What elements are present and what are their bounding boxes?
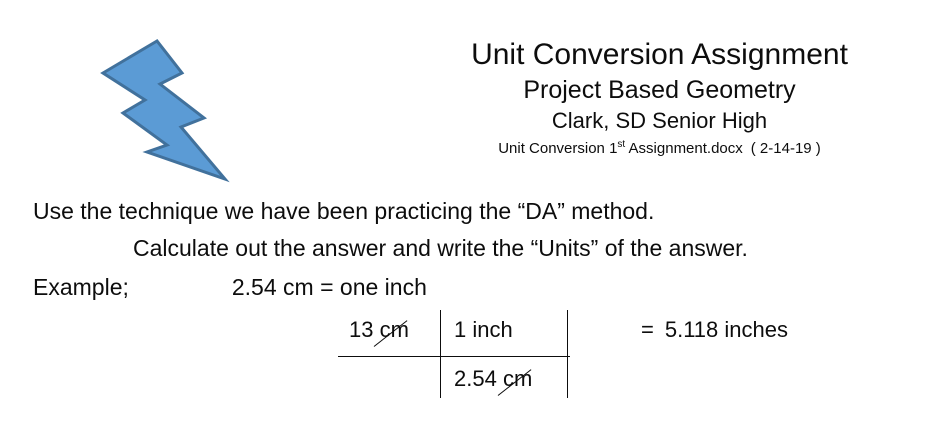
- instruction-line-1: Use the technique we have been practicin…: [33, 196, 654, 226]
- instruction-line-2: Calculate out the answer and write the “…: [133, 233, 748, 263]
- da-numerator-right-unit: inch: [472, 317, 512, 342]
- da-result: =5.118 inches: [641, 316, 788, 344]
- lightning-bolt-icon: [95, 32, 240, 187]
- file-name-prefix: Unit Conversion 1: [498, 140, 617, 157]
- example-line: Example;2.54 cm = one inch: [33, 272, 427, 302]
- da-denominator-right: 2.54 cm: [454, 365, 532, 393]
- file-name-suffix: Assignment.docx: [625, 140, 743, 157]
- example-equation: 2.54 cm = one inch: [232, 274, 427, 300]
- da-numerator-left-unit-cancelled: cm: [380, 316, 409, 344]
- course-subtitle: Project Based Geometry: [392, 74, 927, 106]
- da-numerator-right: 1 inch: [454, 316, 513, 344]
- column-divider-2: [567, 310, 568, 398]
- da-numerator-right-value: 1: [454, 317, 466, 342]
- da-numerator-left-value: 13: [349, 317, 373, 342]
- da-denominator-right-unit-cancelled: cm: [503, 365, 532, 393]
- da-denominator-right-value: 2.54: [454, 366, 497, 391]
- page-title: Unit Conversion Assignment: [392, 36, 927, 74]
- file-date: ( 2-14-19 ): [751, 140, 821, 157]
- example-label: Example;: [33, 274, 129, 300]
- equals-sign: =: [641, 317, 654, 342]
- file-name-line: Unit Conversion 1st Assignment.docx( 2-1…: [392, 138, 927, 160]
- column-divider-1: [440, 310, 441, 398]
- da-result-value: 5.118 inches: [665, 317, 788, 342]
- title-block: Unit Conversion Assignment Project Based…: [392, 36, 927, 160]
- fraction-bar: [338, 356, 570, 357]
- da-numerator-left: 13 cm: [349, 316, 409, 344]
- dimensional-analysis-grid: 13 cm 1 inch 2.54 cm =5.118 inches: [336, 305, 636, 415]
- school-subtitle: Clark, SD Senior High: [392, 106, 927, 136]
- slide-canvas: Unit Conversion Assignment Project Based…: [0, 0, 927, 434]
